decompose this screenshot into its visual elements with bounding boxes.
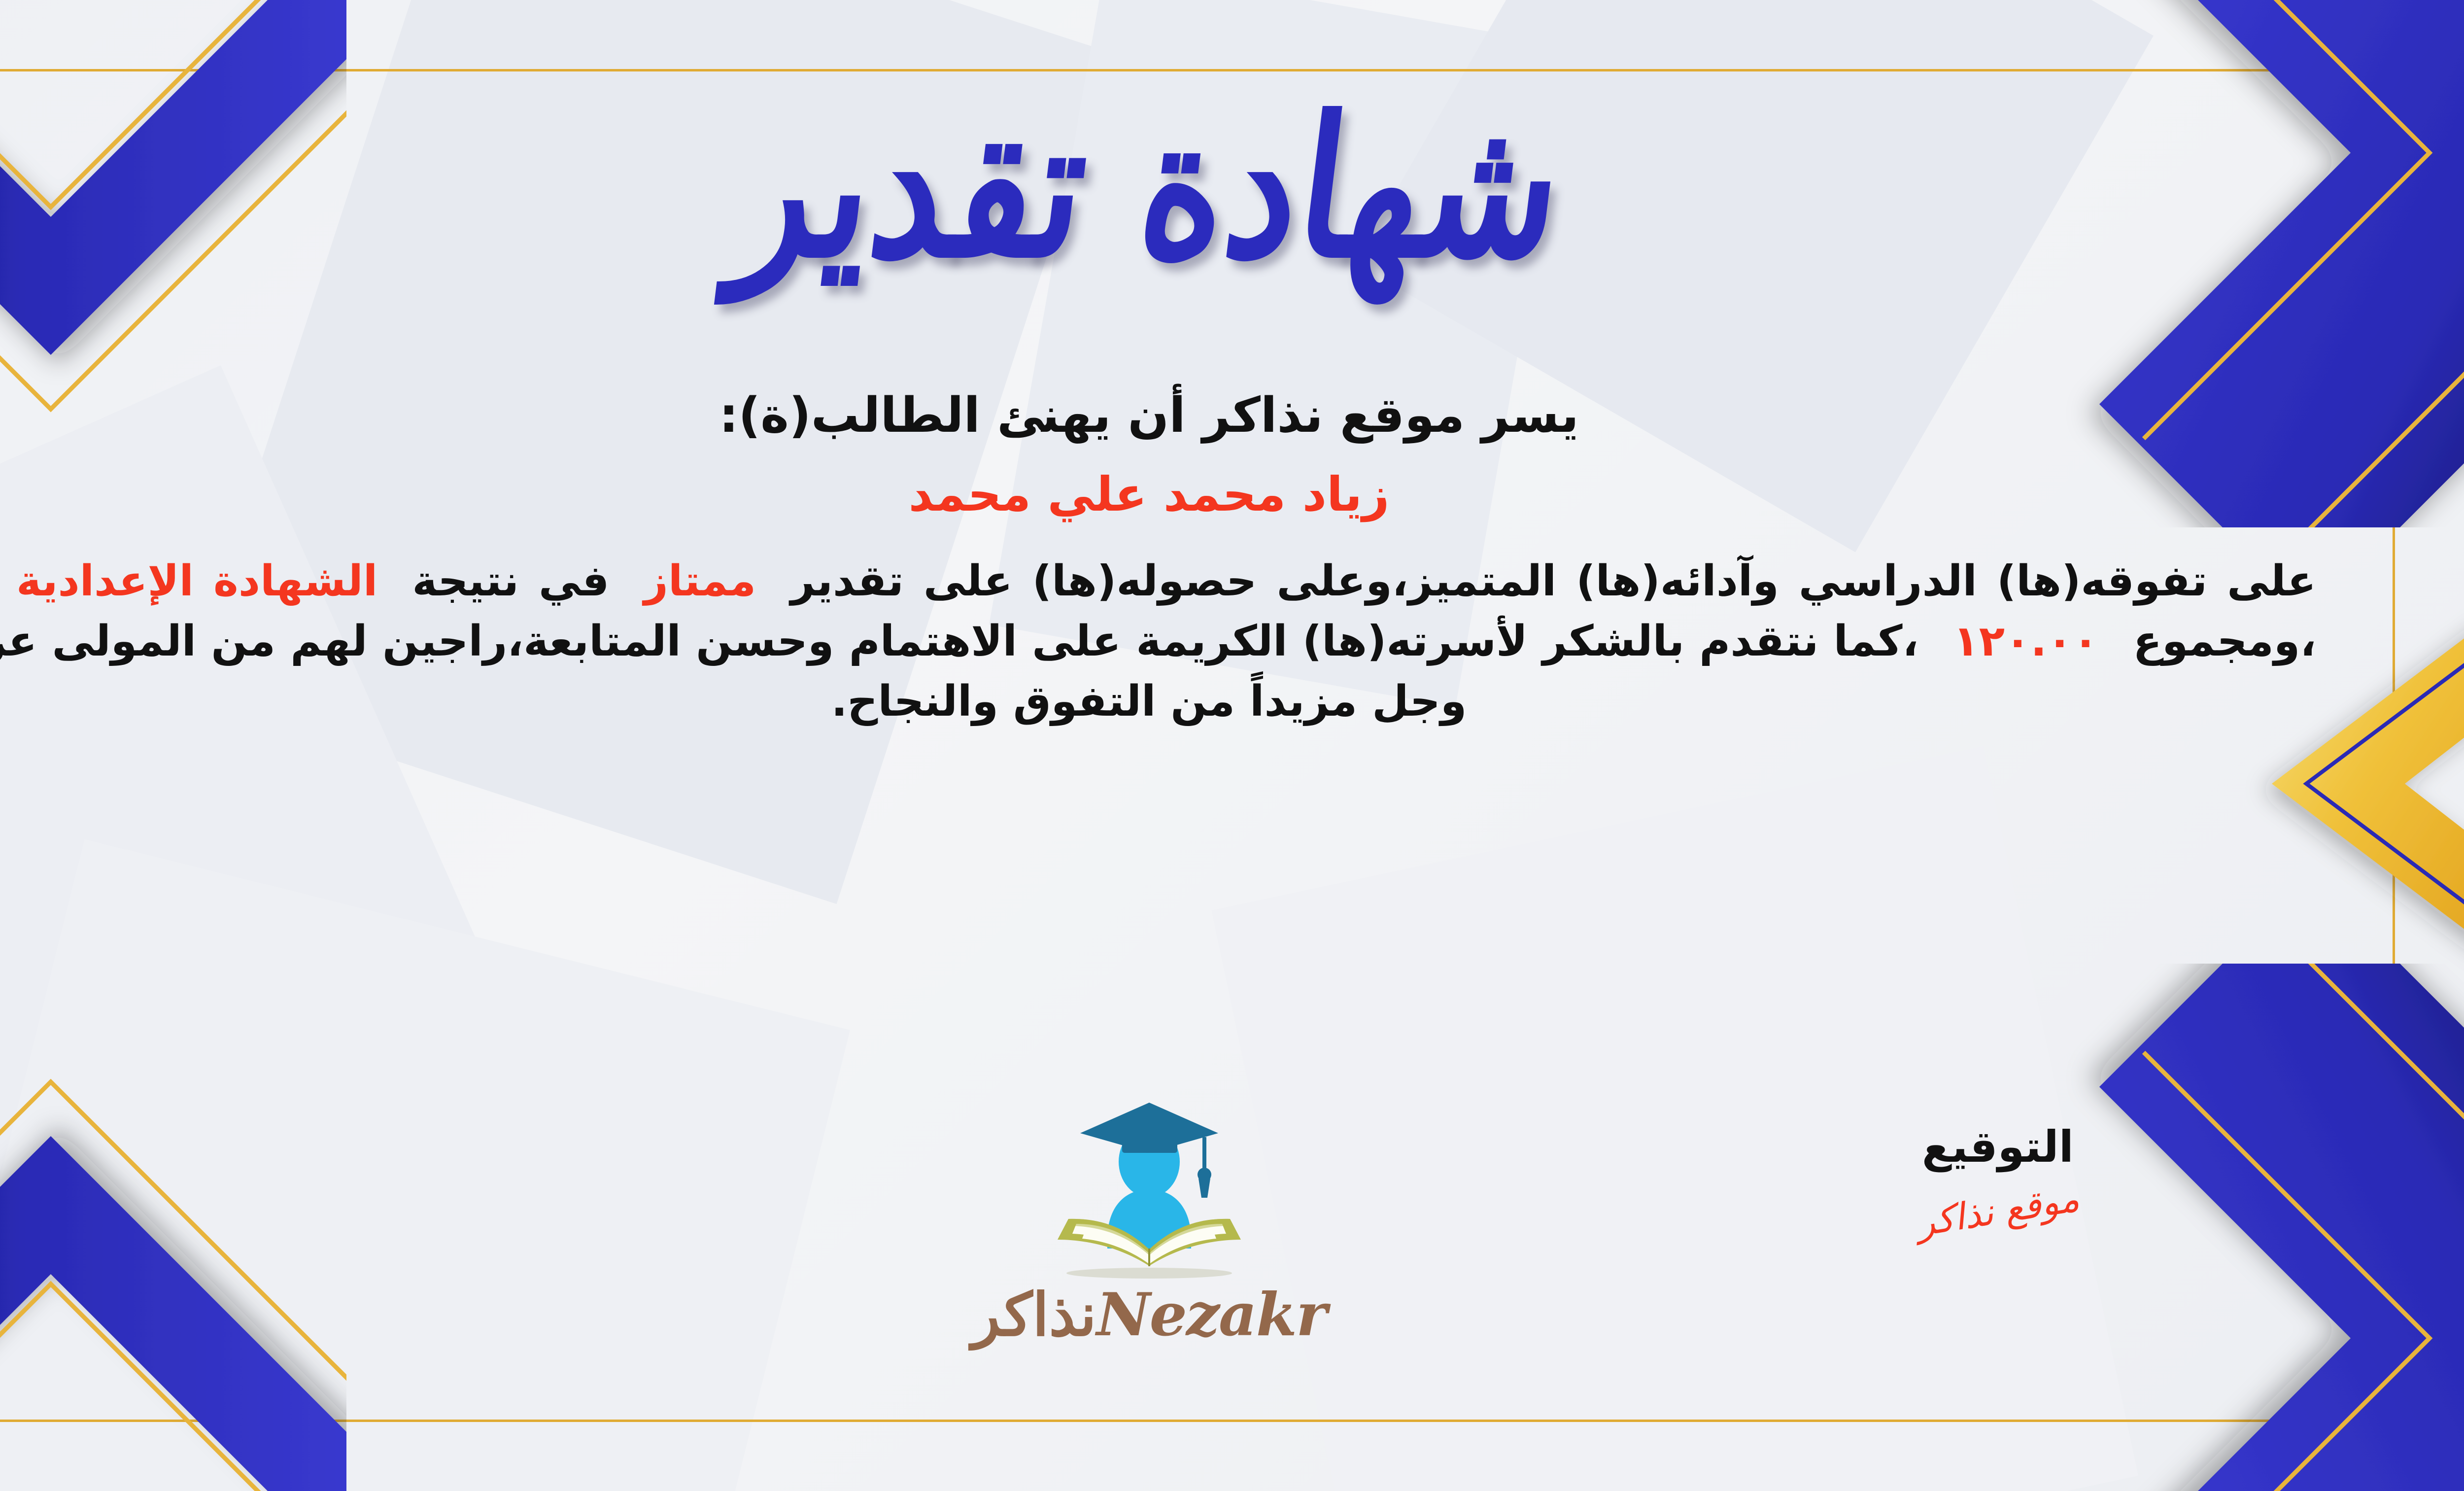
- grade-value: ممتاز: [644, 556, 756, 606]
- signature-block: التوقيع موقع نذاكر: [1916, 1121, 2080, 1232]
- graduate-book-icon: [1021, 1092, 1277, 1289]
- signature-label: التوقيع: [1916, 1121, 2080, 1172]
- certificate-canvas: شهادة تقدير يسر موقع نذاكر أن يهنئ الطال…: [0, 0, 2464, 1491]
- page-title: شهادة تقدير: [726, 91, 1573, 283]
- certificate-body: يسر موقع نذاكر أن يهنئ الطالب(ة): زياد م…: [0, 384, 2316, 732]
- paragraph-part-4: ،كما نتقدم بالشكر لأسرته(ها) الكريمة على…: [0, 617, 1918, 726]
- total-score: ١٢٠.٠٠: [1953, 617, 2098, 666]
- exam-name: الشهادة الإعدادية: [16, 556, 377, 606]
- student-name: زياد محمد علي محمد: [0, 464, 2316, 525]
- paragraph-part-2: في نتيجة: [412, 556, 609, 606]
- certificate-title-area: شهادة تقدير: [0, 79, 2464, 296]
- brand-logo-text: Nezakrنذاكر: [967, 1280, 1332, 1350]
- certificate-footer: التوقيع موقع نذاكر: [0, 1121, 2316, 1397]
- signature-handwriting: موقع نذاكر: [1914, 1178, 2082, 1245]
- paragraph-part-3: ،ومجموع: [2133, 617, 2316, 666]
- brand-name-arabic: نذاكر: [972, 1280, 1096, 1350]
- congratulation-lead-line: يسر موقع نذاكر أن يهنئ الطالب(ة):: [0, 384, 2316, 447]
- brand-name-latin: Nezakr: [1096, 1280, 1326, 1350]
- certificate-paragraph: على تفوقه(ها) الدراسي وآدائه(ها) المتميز…: [0, 551, 2316, 731]
- brand-logo: Nezakrنذاكر: [967, 1092, 1332, 1350]
- paragraph-part-1: على تفوقه(ها) الدراسي وآدائه(ها) المتميز…: [790, 556, 2316, 606]
